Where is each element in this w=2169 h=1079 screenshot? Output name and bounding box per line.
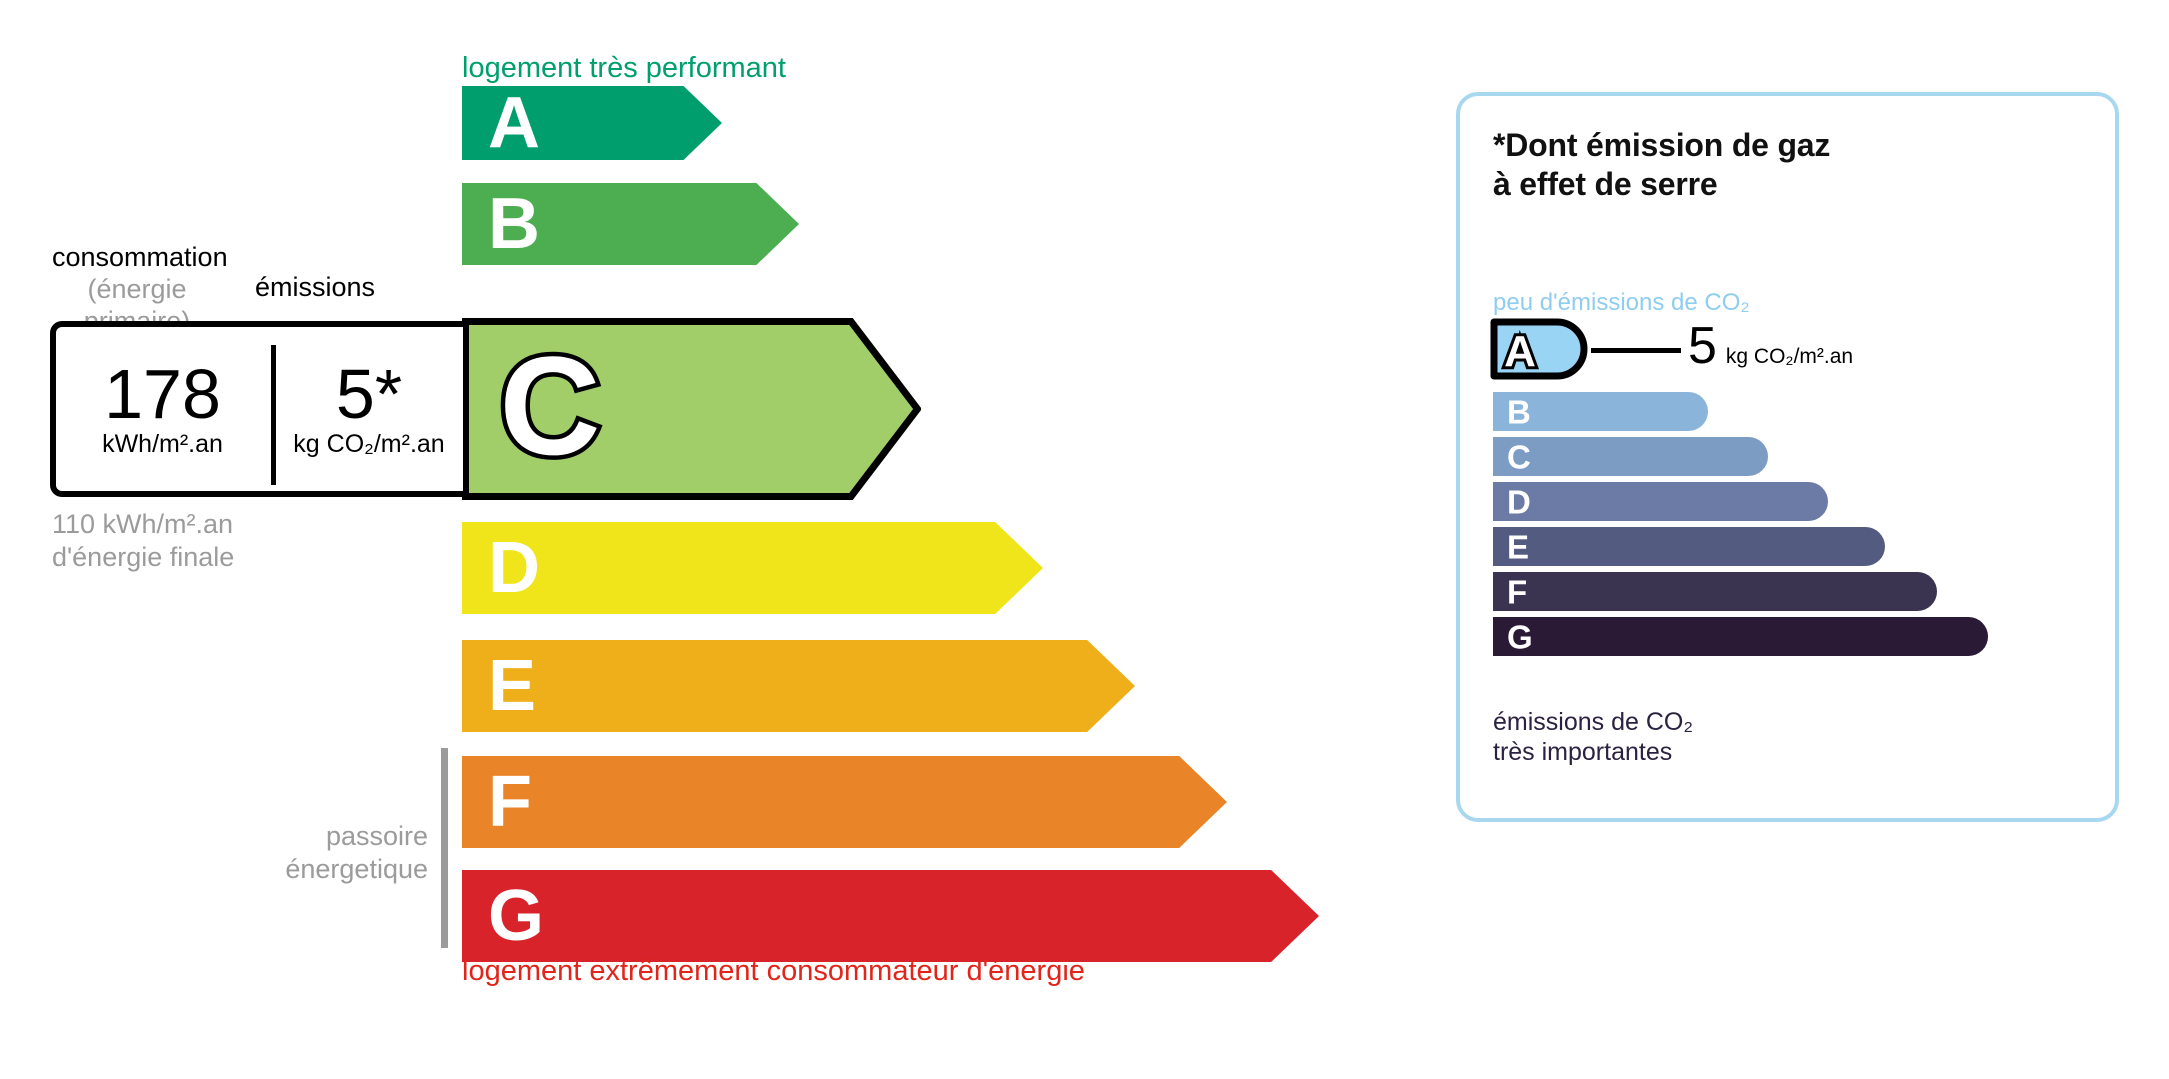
co2-value-readout: 5 kg CO₂/m².an [1688, 320, 1853, 372]
emissions-value-cell: 5* kg CO₂/m².an [275, 327, 463, 491]
final-energy-value: 110 kWh/m².an [52, 508, 234, 541]
energy-performance-diagram: logement très performant ABCDEFG logemen… [0, 0, 1390, 1079]
co2-bar-letter: E [1507, 530, 1529, 563]
co2-bar-letter: G [1507, 620, 1533, 653]
co2-panel-title-line1: *Dont émission de gaz [1493, 126, 1830, 165]
band-letter: B [488, 188, 540, 260]
co2-bar-letter: F [1507, 575, 1527, 608]
emissions-label: émissions [222, 272, 408, 303]
final-energy-caption: d'énergie finale [52, 541, 234, 574]
co2-bar-d[interactable]: D [1493, 482, 1828, 521]
co2-bottom-caption: émissions de CO₂ très importantes [1493, 707, 1693, 767]
co2-bar-c[interactable]: C [1493, 437, 1768, 476]
energy-band-f[interactable]: F [462, 756, 1227, 848]
co2-bar-letter: D [1507, 485, 1531, 518]
consumption-label-main: consommation [52, 242, 222, 274]
co2-bar-letter: B [1507, 395, 1531, 428]
passoire-label: passoire énergetique [220, 820, 428, 886]
scale-top-caption: logement très performant [462, 52, 786, 85]
energy-band-d[interactable]: D [462, 522, 1043, 614]
band-arrow-shape-icon [462, 640, 1135, 732]
co2-badge-letter: A [1504, 327, 1536, 376]
co2-bar-g[interactable]: G [1493, 617, 1988, 656]
co2-value-number: 5 [1688, 320, 1717, 372]
consumption-value-cell: 178 kWh/m².an [56, 327, 269, 491]
co2-emissions-panel: *Dont émission de gaz à effet de serre p… [1456, 92, 2119, 822]
svg-text:C: C [499, 334, 600, 484]
energy-band-b[interactable]: B [462, 183, 799, 265]
passoire-label-line1: passoire [220, 820, 428, 853]
co2-badge-shape-icon: A [1490, 318, 1588, 380]
band-letter-outlined: C [480, 334, 620, 484]
band-letter: A [488, 87, 540, 159]
co2-panel-title-line2: à effet de serre [1493, 165, 1830, 204]
co2-top-caption: peu d'émissions de CO₂ [1493, 289, 1750, 317]
final-energy-note: 110 kWh/m².an d'énergie finale [52, 508, 234, 574]
value-readout-box: 178 kWh/m².an 5* kg CO₂/m².an [50, 321, 463, 497]
energy-band-e[interactable]: E [462, 640, 1135, 732]
band-letter: E [488, 650, 536, 722]
scale-bottom-caption: logement extrêmement consommateur d'éner… [462, 955, 1085, 988]
energy-band-c[interactable]: C [462, 318, 921, 500]
consumption-unit: kWh/m².an [102, 432, 223, 457]
co2-bar-b[interactable]: B [1493, 392, 1708, 431]
band-letter: F [488, 766, 532, 838]
band-letter: D [488, 532, 540, 604]
co2-panel-title: *Dont émission de gaz à effet de serre [1493, 126, 1830, 204]
consumption-value: 178 [104, 361, 221, 428]
co2-bottom-caption-line1: émissions de CO₂ [1493, 707, 1693, 737]
co2-bar-fill [1493, 437, 1768, 476]
energy-band-g[interactable]: G [462, 870, 1319, 962]
passoire-bracket [441, 748, 448, 948]
co2-value-unit: kg CO₂/m².an [1726, 346, 1853, 367]
co2-selected-badge-a: A [1490, 318, 1588, 380]
emissions-unit: kg CO₂/m².an [293, 432, 444, 457]
co2-bar-fill [1493, 527, 1885, 566]
energy-band-a[interactable]: A [462, 86, 722, 160]
band-letter: G [488, 880, 544, 952]
emissions-value: 5* [336, 361, 402, 428]
co2-value-connector-line [1591, 348, 1681, 353]
co2-bar-fill [1493, 617, 1988, 656]
co2-bar-e[interactable]: E [1493, 527, 1885, 566]
co2-bar-fill [1493, 482, 1828, 521]
co2-bar-f[interactable]: F [1493, 572, 1937, 611]
band-arrow-shape-icon [462, 870, 1319, 962]
co2-bottom-caption-line2: très importantes [1493, 737, 1693, 767]
band-arrow-shape-icon [462, 756, 1227, 848]
band-arrow-shape-icon [462, 522, 1043, 614]
co2-bar-fill [1493, 572, 1937, 611]
co2-bar-letter: C [1507, 440, 1531, 473]
passoire-label-line2: énergetique [220, 853, 428, 886]
